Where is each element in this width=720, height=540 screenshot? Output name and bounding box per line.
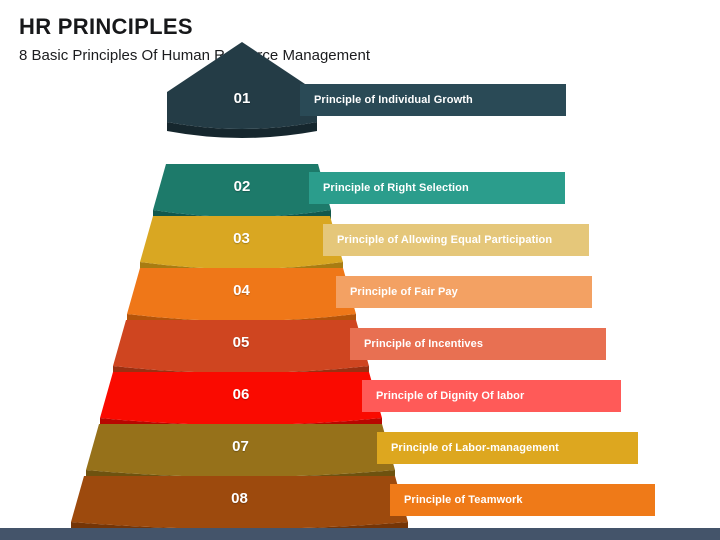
bottom-accent-strip <box>0 528 720 540</box>
pyramid-level-03[interactable]: 03 <box>140 216 343 262</box>
slide-canvas: HR PRINCIPLES 8 Basic Principles Of Huma… <box>0 0 720 540</box>
pyramid-level-label: Principle of Teamwork <box>390 484 523 516</box>
pyramid-level-number: 03 <box>140 216 343 262</box>
pyramid-level-label-bar[interactable]: Principle of Teamwork <box>390 484 655 516</box>
pyramid-level-number: 02 <box>153 164 331 210</box>
page-subtitle: 8 Basic Principles Of Human Resource Man… <box>19 47 699 65</box>
pyramid-level-04[interactable]: 04 <box>127 268 356 314</box>
pyramid-level-number: 07 <box>86 424 395 470</box>
slide-header: HR PRINCIPLES 8 Basic Principles Of Huma… <box>19 14 699 65</box>
pyramid-level-01[interactable]: 01 <box>167 76 317 122</box>
pyramid-level-07[interactable]: 07 <box>86 424 395 470</box>
pyramid-level-label-bar[interactable]: Principle of Individual Growth <box>300 84 566 116</box>
pyramid-level-label: Principle of Dignity Of labor <box>362 380 524 412</box>
pyramid-level-label: Principle of Allowing Equal Participatio… <box>323 224 552 256</box>
pyramid-level-label-bar[interactable]: Principle of Fair Pay <box>336 276 592 308</box>
pyramid-level-label: Principle of Right Selection <box>309 172 469 204</box>
pyramid-level-label: Principle of Incentives <box>350 328 483 360</box>
pyramid-level-02[interactable]: 02 <box>153 164 331 210</box>
pyramid-level-number: 08 <box>71 476 408 522</box>
pyramid-level-label-bar[interactable]: Principle of Right Selection <box>309 172 565 204</box>
pyramid-level-number: 06 <box>100 372 382 418</box>
pyramid-diagram: 01Principle of Individual Growth02Princi… <box>0 76 720 526</box>
pyramid-level-label: Principle of Individual Growth <box>300 84 473 116</box>
pyramid-level-label-bar[interactable]: Principle of Labor-management <box>377 432 638 464</box>
pyramid-level-number: 01 <box>167 76 317 122</box>
pyramid-level-label-bar[interactable]: Principle of Incentives <box>350 328 606 360</box>
pyramid-level-06[interactable]: 06 <box>100 372 382 418</box>
pyramid-level-label-bar[interactable]: Principle of Allowing Equal Participatio… <box>323 224 589 256</box>
pyramid-level-label-bar[interactable]: Principle of Dignity Of labor <box>362 380 621 412</box>
pyramid-level-08[interactable]: 08 <box>71 476 408 522</box>
pyramid-level-05[interactable]: 05 <box>113 320 369 366</box>
pyramid-level-label: Principle of Labor-management <box>377 432 559 464</box>
pyramid-level-number: 05 <box>113 320 369 366</box>
pyramid-level-number: 04 <box>127 268 356 314</box>
page-title: HR PRINCIPLES <box>19 14 699 39</box>
